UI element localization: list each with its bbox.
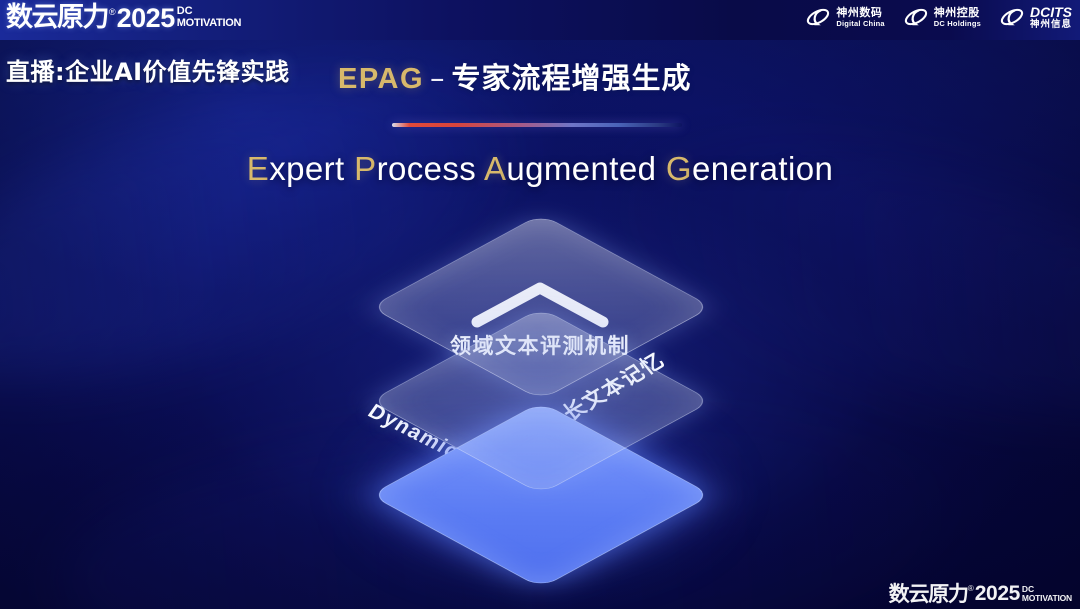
layered-stack-diagram bbox=[300, 228, 780, 573]
subtitle-cap-g: G bbox=[666, 150, 692, 187]
slide-canvas: 数云原力 ® 2025 DC MOTIVATION 神州数码 Digital C… bbox=[0, 0, 1080, 609]
brand-dc-line1: DC bbox=[177, 6, 241, 17]
watermark-dc-line2: MOTIVATION bbox=[1022, 594, 1072, 604]
watermark-logo: 数云原力 ® 2025 DC MOTIVATION bbox=[889, 583, 1072, 605]
subtitle-rest-expert: xpert bbox=[269, 150, 344, 187]
partner-label: DCITS 神州信息 bbox=[1030, 5, 1072, 30]
partner-name-cn: 神州控股 bbox=[934, 7, 981, 18]
brand-name-cn: 数云原力 bbox=[6, 4, 108, 32]
partner-label: 神州数码 Digital China bbox=[836, 7, 884, 28]
subtitle-english: Expert Process Augmented Generation bbox=[0, 150, 1080, 188]
brand-dc-line2: MOTIVATION bbox=[177, 17, 241, 29]
watermark-name-cn: 数云原力 bbox=[889, 583, 968, 605]
partner-name-en: DC Holdings bbox=[934, 20, 981, 28]
swirl-logo-icon bbox=[999, 4, 1025, 30]
swirl-logo-icon bbox=[903, 4, 929, 30]
swirl-logo-icon bbox=[805, 4, 831, 30]
live-stream-title: 直播:企业AI价值先锋实践 bbox=[6, 52, 290, 87]
partner-name-cn: DCITS bbox=[1030, 5, 1072, 19]
watermark-registered-mark: ® bbox=[968, 584, 974, 594]
title-acronym: EPAG bbox=[338, 63, 424, 95]
partner-name-en: 神州信息 bbox=[1030, 20, 1072, 30]
partner-logo-digital-china: 神州数码 Digital China bbox=[805, 4, 884, 30]
subtitle-rest-generation: eneration bbox=[692, 150, 833, 187]
subtitle-cap-e: E bbox=[247, 150, 269, 187]
brand-year: 2025 bbox=[117, 4, 175, 32]
partner-name-cn: 神州数码 bbox=[836, 7, 884, 18]
page-title: EPAG–专家流程增强生成 bbox=[338, 55, 692, 97]
brand-dc-motivation: DC MOTIVATION bbox=[177, 6, 241, 29]
partner-logo-dcits: DCITS 神州信息 bbox=[999, 4, 1072, 30]
title-chinese: 专家流程增强生成 bbox=[452, 61, 692, 95]
gradient-divider bbox=[392, 123, 682, 127]
partner-logo-dc-holdings: 神州控股 DC Holdings bbox=[903, 4, 981, 30]
partner-name-en: Digital China bbox=[836, 20, 884, 28]
subtitle-rest-process: rocess bbox=[377, 150, 477, 187]
watermark-dc-motivation: DC MOTIVATION bbox=[1022, 585, 1072, 603]
title-dash: – bbox=[424, 61, 452, 95]
subtitle-cap-a: A bbox=[484, 150, 506, 187]
watermark-year: 2025 bbox=[975, 583, 1020, 605]
partner-label: 神州控股 DC Holdings bbox=[934, 7, 981, 28]
subtitle-rest-augmented: ugmented bbox=[506, 150, 656, 187]
partner-logo-row: 神州数码 Digital China 神州控股 DC Holdings DCIT… bbox=[805, 4, 1072, 30]
brand-logo: 数云原力 ® 2025 DC MOTIVATION bbox=[6, 4, 241, 32]
subtitle-cap-p: P bbox=[354, 150, 376, 187]
registered-mark: ® bbox=[109, 6, 116, 18]
